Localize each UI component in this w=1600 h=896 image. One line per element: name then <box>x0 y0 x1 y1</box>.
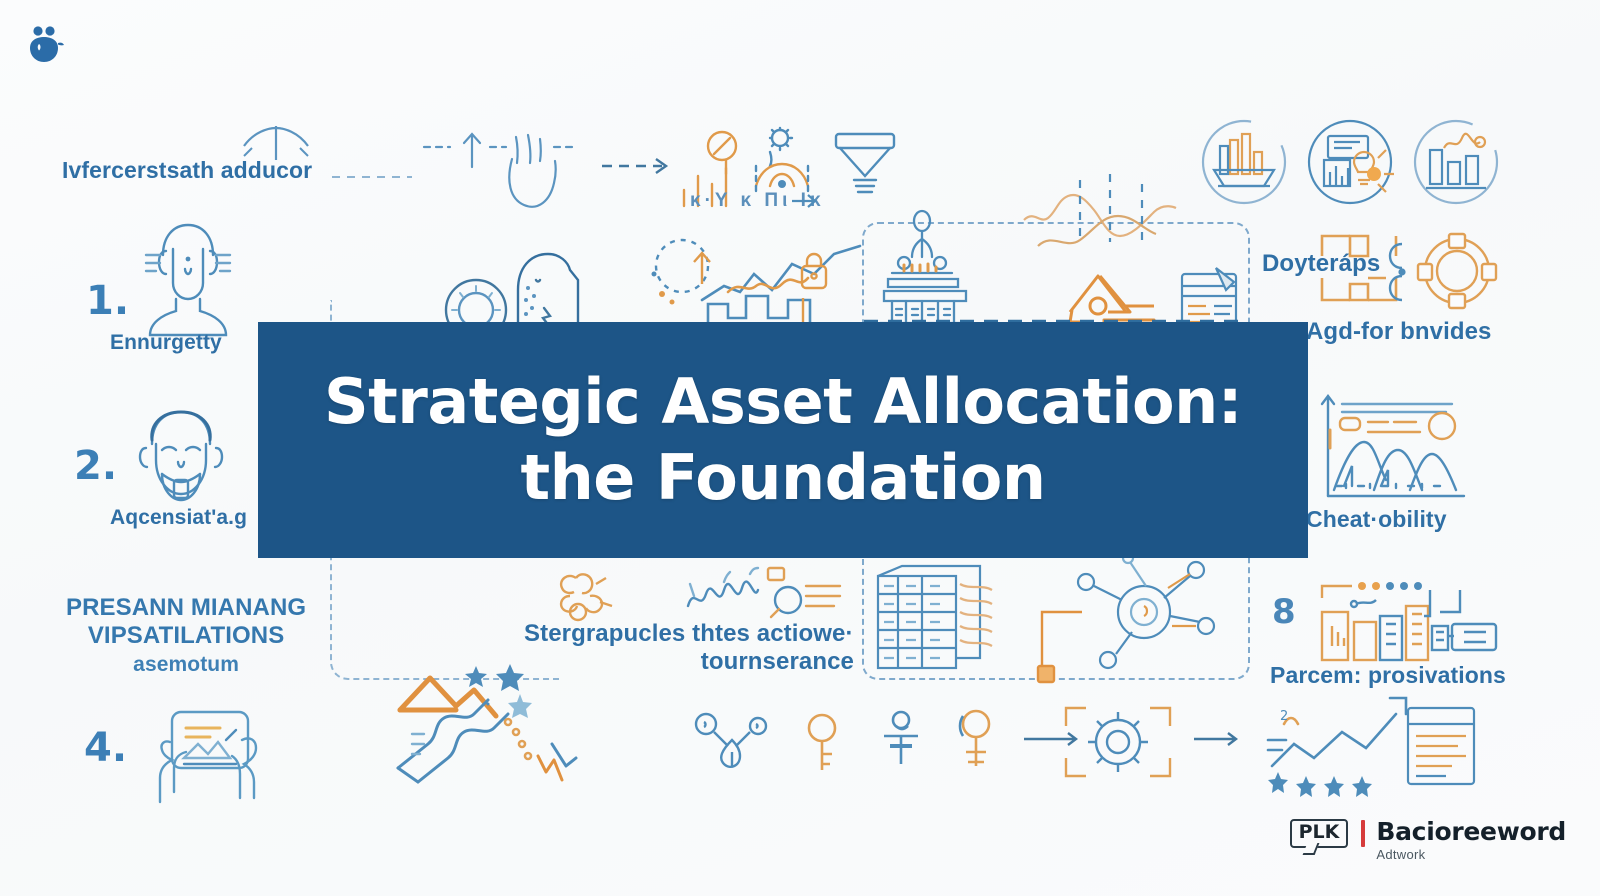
svg-text:2: 2 <box>1280 709 1288 724</box>
mountain-path-sketch-icon <box>1020 168 1180 254</box>
title-line-1: Strategic Asset Allocation: <box>324 364 1242 440</box>
left-block-subtext: asemotum <box>66 653 306 678</box>
pin-drop-pair-icon <box>692 712 772 774</box>
key-glyph-icon <box>800 712 844 776</box>
circle-clasp-icon <box>1386 238 1412 308</box>
arrow-small-right-icon <box>790 190 824 212</box>
circle-icon-presentation-idea <box>1306 118 1394 206</box>
left-item-2-number: 2. <box>74 443 117 489</box>
title-banner: Strategic Asset Allocation: the Foundati… <box>258 322 1308 558</box>
brand-name: Bacioreeword <box>1376 819 1566 844</box>
circle-icon-bar-line-chart <box>1412 118 1500 206</box>
antenna-glyph-icon <box>238 122 314 168</box>
left-item-1-label: Ennurgetty <box>110 331 222 356</box>
left-block-heading-line-2: VIPSATILATIONS <box>66 622 306 650</box>
right-item-3-label: Cheat·obility <box>1306 506 1447 533</box>
blueprint-building-icon <box>872 564 1002 674</box>
logo-divider <box>1361 820 1365 847</box>
key-circle-glyph-icon <box>952 708 1000 774</box>
area-chart-icon <box>1318 388 1468 504</box>
mountain-road-stars-icon <box>392 648 582 788</box>
hand-arrow-sketch-icon <box>420 125 600 225</box>
statue-monument-icon <box>878 205 1008 325</box>
left-item-4-number: 4. <box>84 725 127 771</box>
person-headset-icon <box>128 207 248 337</box>
footer-logo[interactable]: PLK Bacioreeword Adtwork <box>1290 819 1566 862</box>
orange-connector-icon <box>1038 588 1098 678</box>
right-item-8-number: 8 <box>1272 592 1296 632</box>
balance-stand-icon <box>878 708 924 772</box>
right-label-second: Agd-for bnvides <box>1306 318 1492 346</box>
left-block-heading-line-1: PRESANN MIANANG <box>66 594 306 622</box>
ring-segments-icon <box>1414 230 1500 312</box>
arrow-right-dashed-icon <box>600 150 686 180</box>
hands-tablet-icon <box>140 706 280 806</box>
left-item-1-number: 1. <box>86 278 129 324</box>
wave-magnifier-lines-icon <box>684 562 844 624</box>
growth-arrow-stars-icon: 2 <box>1262 694 1408 794</box>
padlock-icon <box>796 248 832 294</box>
center-caption-line-1: Stergrapucles thtes actiowe· <box>524 620 854 648</box>
city-data-icon <box>1320 578 1500 664</box>
bird-logo-icon[interactable] <box>18 20 70 72</box>
right-item-8-label: Parcem: prosivations <box>1270 662 1506 689</box>
plk-badge: PLK <box>1290 819 1349 848</box>
left-item-2-label: Aqcensiat'a.g <box>110 506 247 531</box>
title-line-2: the Foundation <box>521 440 1046 516</box>
document-lines-icon <box>1404 704 1480 788</box>
circle-icon-boat-bars <box>1200 118 1288 206</box>
arrow-right-small2-icon <box>1192 728 1244 750</box>
brand-subtitle: Adtwork <box>1376 847 1566 862</box>
bearded-person-icon <box>126 400 236 515</box>
infographic-canvas: Ivfercerstsath adducor 1. Ennurgetty <box>0 0 1600 896</box>
line-area-chart-icon <box>698 238 878 334</box>
dashed-connector-icon <box>332 168 422 186</box>
gear-brackets-icon <box>1062 700 1174 784</box>
